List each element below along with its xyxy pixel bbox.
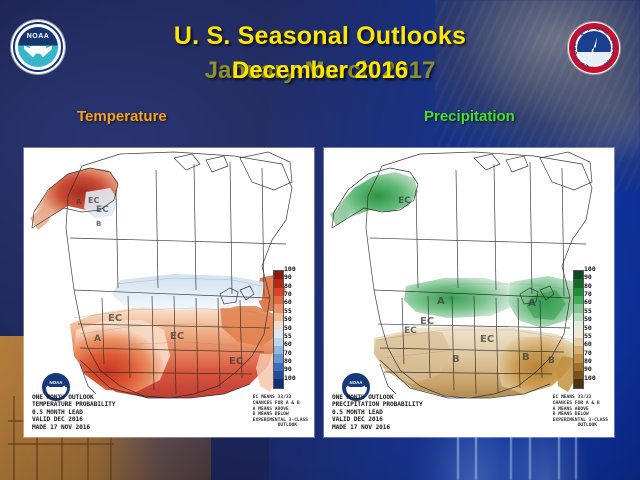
precipitation-map-caption: ONE MONTH OUTLOOK PRECIPITATION PROBABIL… [332, 394, 423, 431]
colorbar-tick-label: 70 [284, 350, 292, 357]
colorbar-segment [274, 371, 283, 379]
colorbar-segment [274, 354, 283, 362]
colorbar-segment [274, 329, 283, 337]
colorbar-tick-label: 80 [584, 283, 592, 290]
colorbar-tick-label: 50 [584, 316, 592, 323]
colorbar-tick-label: 100 [584, 375, 596, 382]
colorbar-tick-label: 100 [284, 266, 296, 273]
colorbar-tick-label: 90 [584, 366, 592, 373]
colorbar-segment [274, 304, 283, 312]
colorbar-segment [274, 363, 283, 371]
subtitle-overlap-group: January-March 2017 December 2016 [0, 56, 640, 86]
colorbar-segment [574, 354, 583, 362]
temperature-colorbar-ticks: 100908070605550505560708090100 [284, 265, 308, 392]
colorbar-segment [274, 321, 283, 329]
colorbar-segment [274, 288, 283, 296]
slide-canvas: NOAA ★★★ NATIONAL WEATHER SERVICE U. S. … [0, 0, 640, 480]
legend-note-last: OUTLOOK [553, 423, 608, 429]
precipitation-map: EC A A EC EC EC B B B 100908070605550505… [324, 148, 614, 437]
subtitle-foreground-period: December 2016 [0, 56, 640, 86]
colorbar-tick-label: 60 [584, 299, 592, 306]
colorbar-segment [574, 371, 583, 379]
colorbar-segment [274, 379, 283, 387]
colorbar-segment [574, 321, 583, 329]
colorbar-tick-label: 55 [284, 333, 292, 340]
precipitation-map-panel[interactable]: EC A A EC EC EC B B B 100908070605550505… [324, 148, 614, 437]
colorbar-segment [574, 271, 583, 279]
precipitation-colorbar [573, 270, 584, 389]
colorbar-segment [574, 346, 583, 354]
legend-note-body: EC MEANS 33/33 CHANCES FOR A & B A MEANS… [553, 395, 608, 422]
colorbar-segment [574, 313, 583, 321]
colorbar-segment [574, 288, 583, 296]
colorbar-segment [274, 271, 283, 279]
colorbar-tick-label: 60 [584, 341, 592, 348]
colorbar-tick-label: 80 [284, 283, 292, 290]
colorbar-tick-label: 80 [584, 358, 592, 365]
colorbar-tick-label: 70 [584, 291, 592, 298]
colorbar-segment [274, 313, 283, 321]
section-label-temperature: Temperature [77, 108, 167, 125]
colorbar-tick-label: 90 [284, 366, 292, 373]
legend-note-last: OUTLOOK [253, 423, 308, 429]
temperature-map: A EC B EC EC A EC EC 1009080706055505055… [24, 148, 314, 437]
colorbar-tick-label: 80 [284, 358, 292, 365]
legend-note-body: EC MEANS 33/33 CHANCES FOR A & B A MEANS… [253, 395, 308, 422]
temperature-map-caption: ONE MONTH OUTLOOK TEMPERATURE PROBABILIT… [32, 394, 115, 431]
colorbar-segment [274, 338, 283, 346]
colorbar-segment [274, 296, 283, 304]
colorbar-segment [274, 346, 283, 354]
temperature-colorbar [273, 270, 284, 389]
colorbar-tick-label: 90 [584, 274, 592, 281]
colorbar-tick-label: 50 [284, 316, 292, 323]
precipitation-map-legend-note: EC MEANS 33/33 CHANCES FOR A & B A MEANS… [553, 395, 608, 429]
colorbar-segment [574, 363, 583, 371]
colorbar-tick-label: 60 [284, 299, 292, 306]
colorbar-segment [574, 329, 583, 337]
colorbar-segment [574, 304, 583, 312]
colorbar-tick-label: 100 [584, 266, 596, 273]
colorbar-tick-label: 70 [284, 291, 292, 298]
colorbar-tick-label: 100 [284, 375, 296, 382]
colorbar-tick-label: 50 [284, 325, 292, 332]
colorbar-tick-label: 60 [284, 341, 292, 348]
colorbar-segment [574, 379, 583, 387]
colorbar-segment [574, 296, 583, 304]
colorbar-segment [274, 279, 283, 287]
colorbar-tick-label: 50 [584, 325, 592, 332]
colorbar-tick-label: 55 [584, 333, 592, 340]
precipitation-colorbar-ticks: 100908070605550505560708090100 [584, 265, 608, 392]
colorbar-tick-label: 55 [584, 308, 592, 315]
colorbar-tick-label: 70 [584, 350, 592, 357]
colorbar-segment [574, 279, 583, 287]
colorbar-tick-label: 55 [284, 308, 292, 315]
colorbar-segment [574, 338, 583, 346]
colorbar-tick-label: 90 [284, 274, 292, 281]
temperature-map-legend-note: EC MEANS 33/33 CHANCES FOR A & B A MEANS… [253, 395, 308, 429]
temperature-map-panel[interactable]: A EC B EC EC A EC EC 1009080706055505055… [24, 148, 314, 437]
section-label-precipitation: Precipitation [424, 108, 515, 125]
page-title: U. S. Seasonal Outlooks [0, 22, 640, 51]
